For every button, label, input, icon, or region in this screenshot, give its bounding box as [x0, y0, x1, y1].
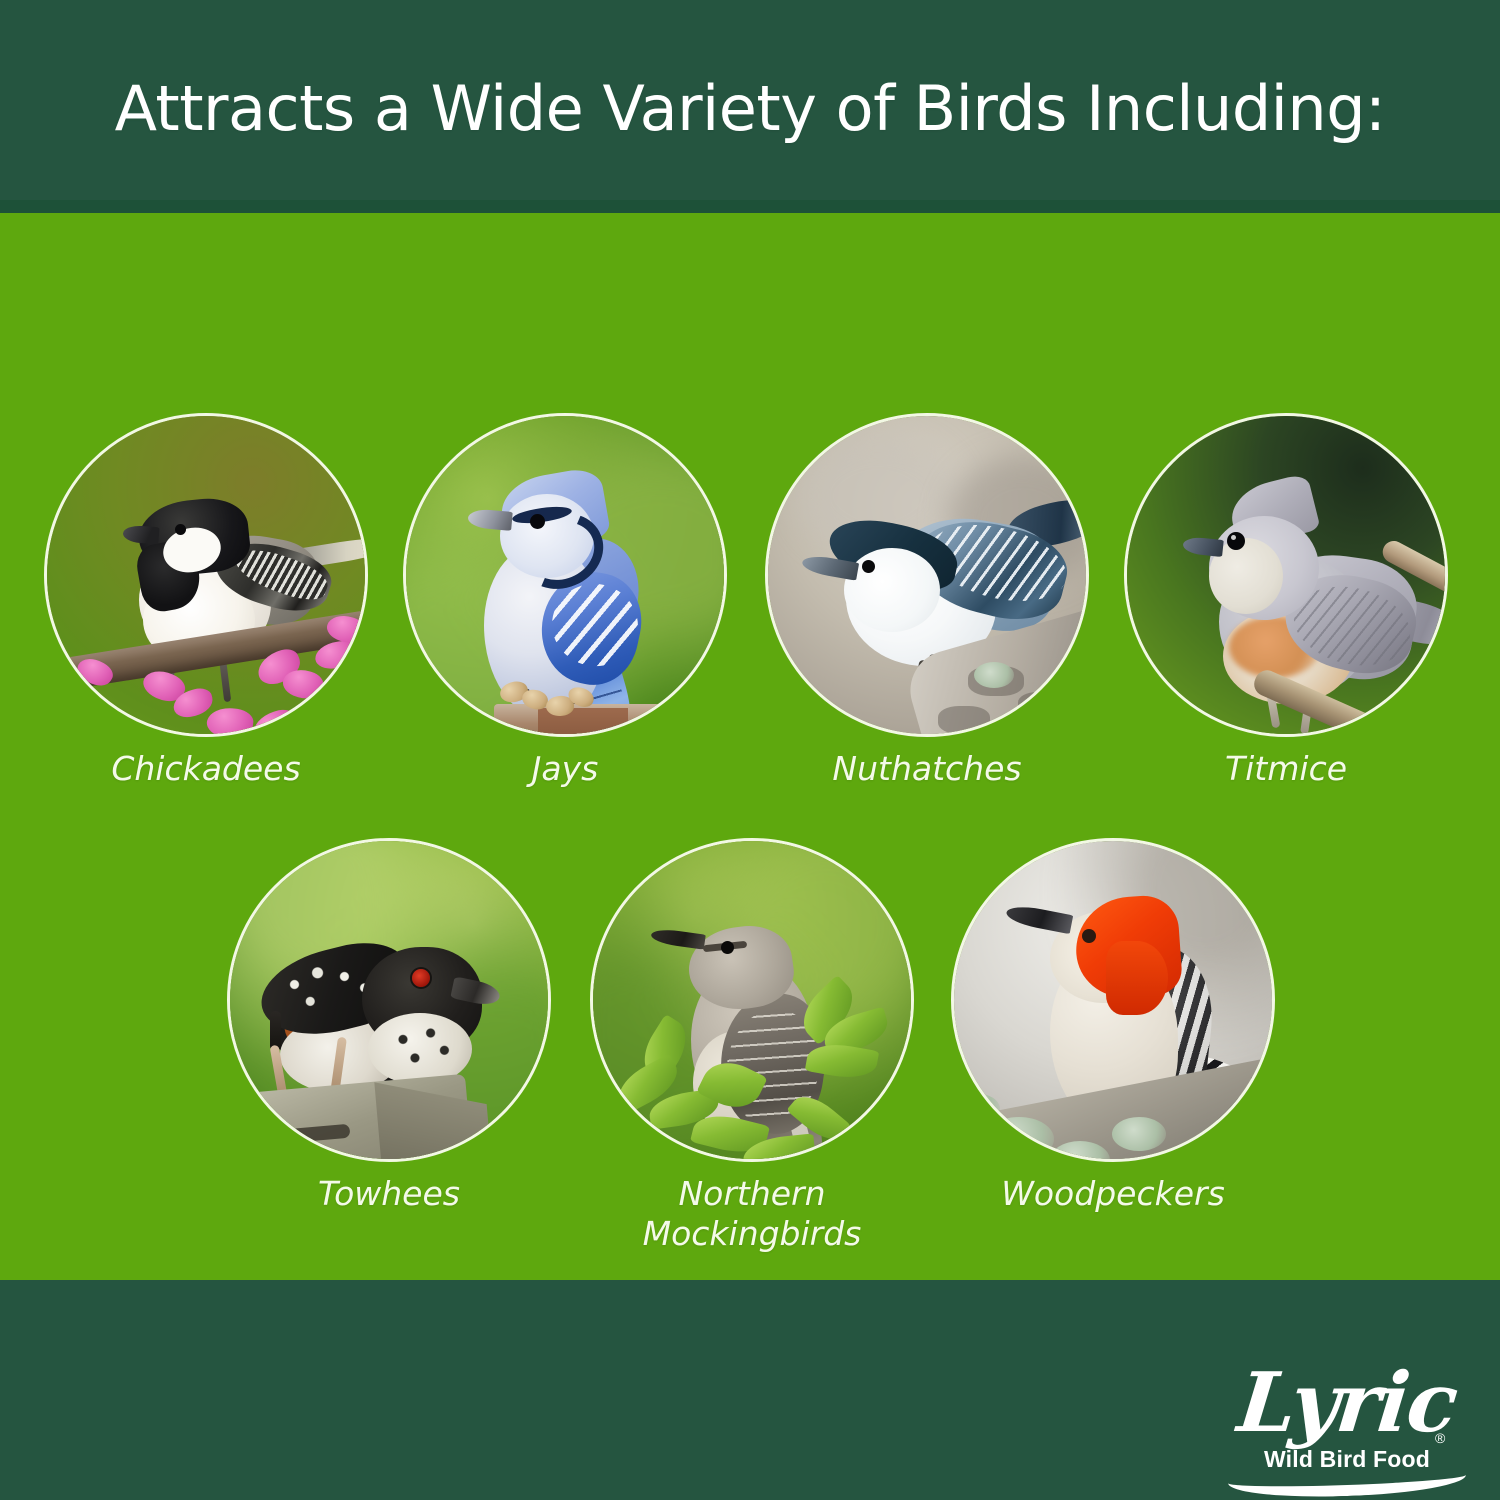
bird-label-titmice: Titmice — [1076, 749, 1496, 789]
mockingbird-photo — [593, 841, 911, 1159]
woodpecker-circle-frame — [951, 838, 1275, 1162]
bird-label-chickadees: Chickadees — [0, 749, 416, 789]
bird-label-northern-mockingbirds: Northern Mockingbirds — [542, 1174, 962, 1254]
poster: Attracts a Wide Variety of Birds Includi… — [0, 0, 1500, 1500]
page-title: Attracts a Wide Variety of Birds Includi… — [0, 72, 1500, 145]
brand-logo[interactable]: Lyric ® Wild Bird Food — [1222, 1362, 1472, 1490]
mockingbird-circle-frame — [590, 838, 914, 1162]
bird-label-line1: Northern — [678, 1174, 825, 1213]
towhee-circle-frame — [227, 838, 551, 1162]
woodpecker-photo — [954, 841, 1272, 1159]
nuthatch-photo — [768, 416, 1086, 734]
registered-mark: ® — [1435, 1430, 1445, 1446]
bird-label-woodpeckers: Woodpeckers — [903, 1174, 1323, 1214]
bird-label-towhees: Towhees — [179, 1174, 599, 1214]
titmouse-photo — [1127, 416, 1445, 734]
logo-tagline: Wild Bird Food — [1222, 1446, 1472, 1473]
towhee-photo — [230, 841, 548, 1159]
blue-jay-photo — [406, 416, 724, 734]
chickadee-circle-frame — [44, 413, 368, 737]
top-band-edge — [0, 200, 1500, 213]
titmouse-circle-frame — [1124, 413, 1448, 737]
bird-label-nuthatches: Nuthatches — [717, 749, 1137, 789]
bird-label-line2: Mockingbirds — [643, 1214, 862, 1253]
nuthatch-circle-frame — [765, 413, 1089, 737]
jay-circle-frame — [403, 413, 727, 737]
bird-label-jays: Jays — [355, 749, 775, 789]
chickadee-photo — [47, 416, 365, 734]
